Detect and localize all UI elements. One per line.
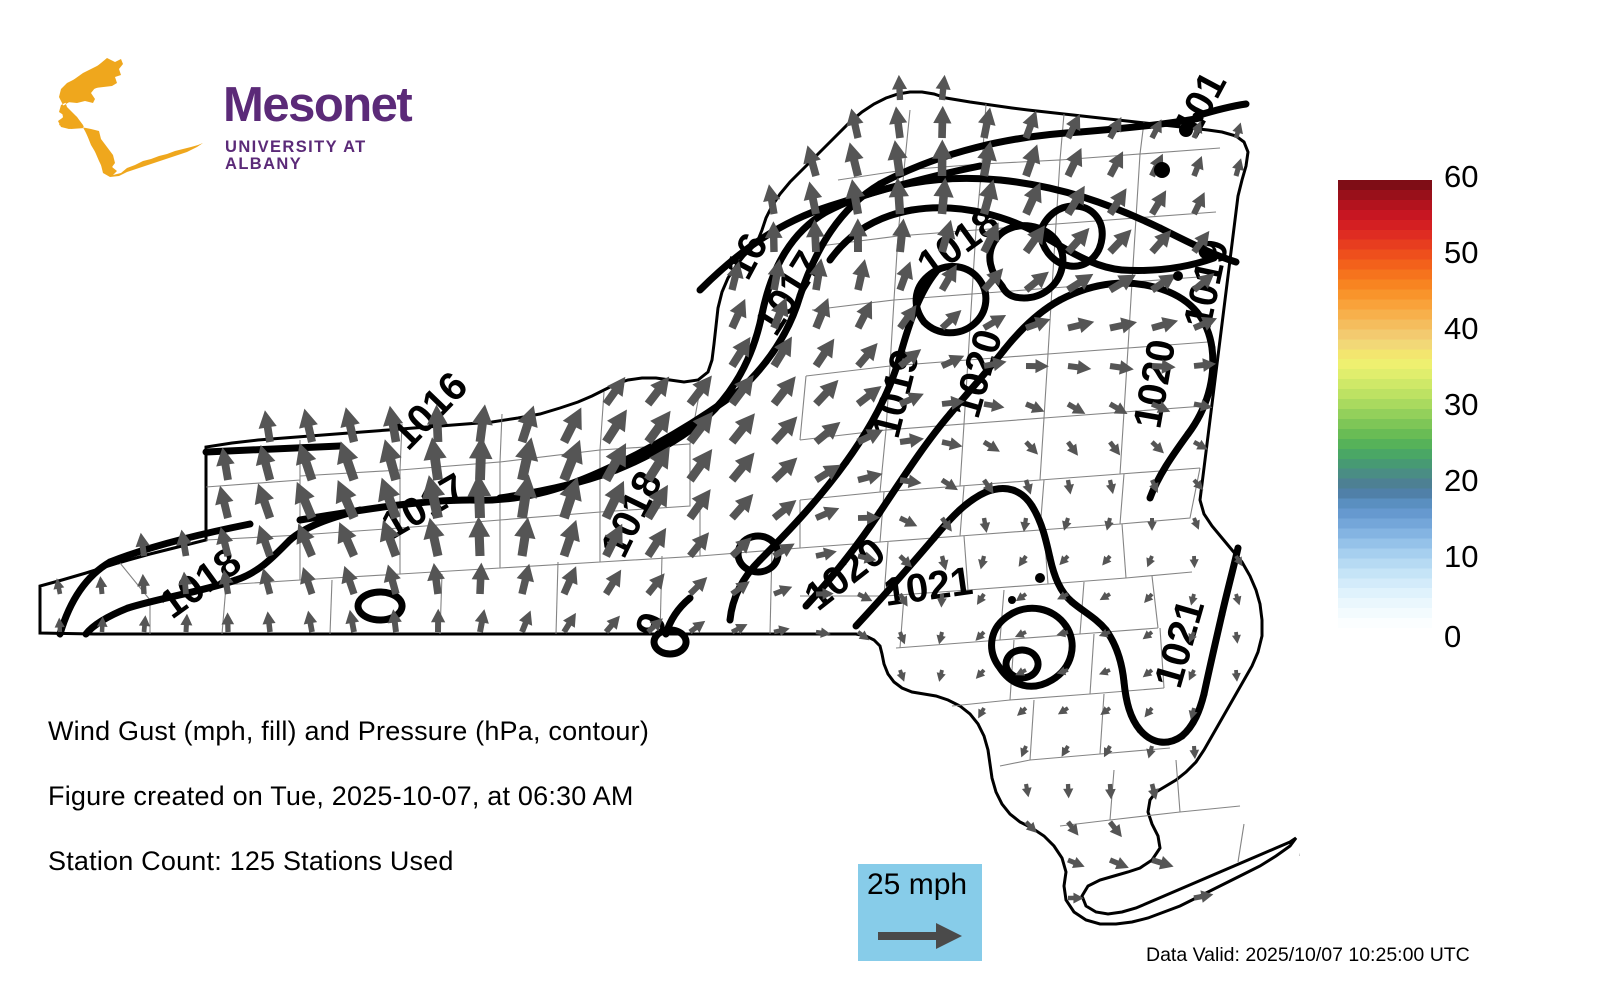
reference-vector-label: 25 mph: [867, 870, 967, 900]
colorbar-tick-0: 0: [1444, 621, 1461, 652]
data-valid-timestamp: Data Valid: 2025/10/07 10:25:00 UTC: [1146, 946, 1470, 966]
figure-caption: Wind Gust (mph, fill) and Pressure (hPa,…: [48, 718, 828, 913]
colorbar-gradient: [1338, 180, 1432, 638]
wind-reference-vector-key: 25 mph: [858, 864, 982, 961]
colorbar: 60 50 40 30 20 10 0: [1338, 175, 1578, 645]
colorbar-tick-20: 20: [1444, 465, 1478, 496]
colorbar-tick-50: 50: [1444, 237, 1478, 268]
caption-line-created: Figure created on Tue, 2025-10-07, at 06…: [48, 783, 828, 810]
colorbar-tick-40: 40: [1444, 313, 1478, 344]
colorbar-tick-30: 30: [1444, 389, 1478, 420]
colorbar-tick-60: 60: [1444, 161, 1478, 192]
right-arrow-icon: [878, 921, 964, 951]
caption-line-stations: Station Count: 125 Stations Used: [48, 848, 828, 875]
colorbar-tick-10: 10: [1444, 541, 1478, 572]
caption-line-variables: Wind Gust (mph, fill) and Pressure (hPa,…: [48, 718, 828, 745]
